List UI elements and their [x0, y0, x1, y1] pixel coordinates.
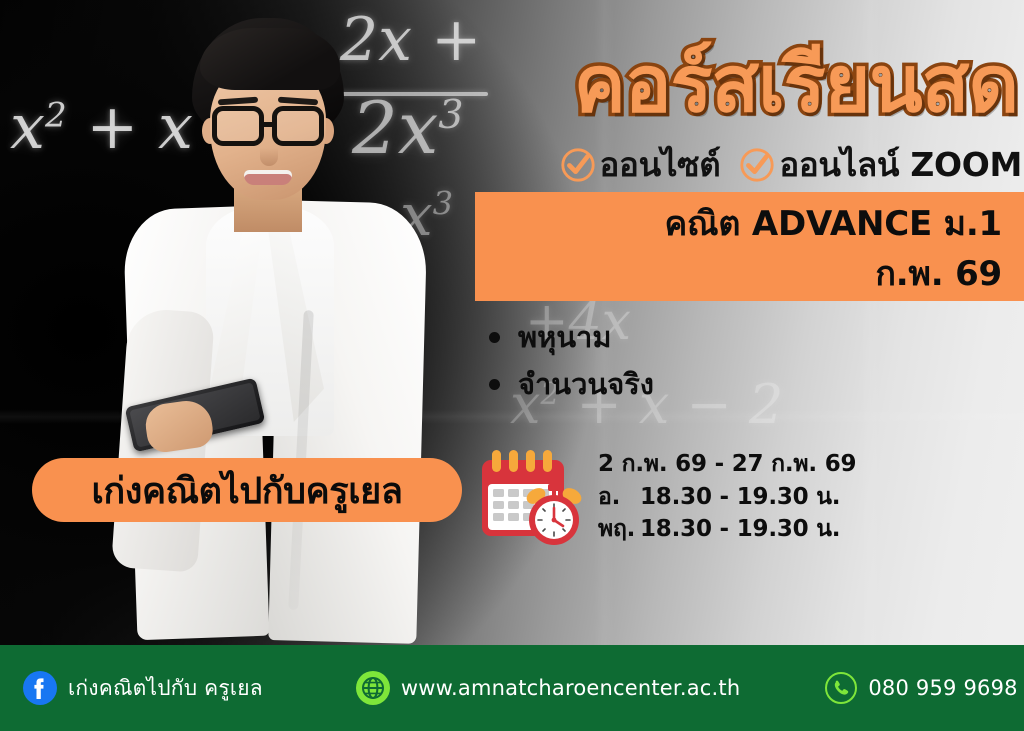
eyeglasses-left-lens: [212, 106, 264, 146]
schedule-session-1: อ.18.30 - 19.30 น.: [598, 481, 856, 514]
hair-fringe: [200, 28, 340, 90]
footer-facebook[interactable]: เก่งคณิตไปกับ ครูเยล: [22, 670, 263, 706]
mode-online-label: ออนไลน์ ZOOM: [779, 138, 1022, 191]
session-day: พฤ.: [598, 513, 640, 546]
facebook-name[interactable]: เก่งคณิตไปกับ ครูเยล: [68, 672, 263, 705]
teacher-portrait: [60, 10, 460, 650]
schedule-block: 2 ก.พ. 69 - 27 ก.พ. 69 อ.18.30 - 19.30 น…: [478, 444, 856, 548]
list-item: จำนวนจริง: [489, 361, 654, 408]
mouth: [244, 170, 292, 185]
session-time: 18.30 - 19.30 น.: [640, 484, 840, 510]
topic-label: พหุนาม: [518, 314, 611, 361]
phone-number[interactable]: 080 959 9698: [868, 676, 1017, 700]
phone-icon[interactable]: [824, 671, 858, 705]
eyeglasses-bridge: [264, 122, 274, 127]
globe-icon[interactable]: [355, 670, 391, 706]
calendar-clock-icon: [478, 448, 582, 548]
mode-onsite-label: ออนไซต์: [600, 138, 721, 191]
schedule-session-2: พฤ.18.30 - 19.30 น.: [598, 513, 856, 546]
topic-list: พหุนาม จำนวนจริง: [489, 314, 654, 408]
course-promo-banner: x2 + x 2x + 2x3 x3 +4x x2 + x − 2 3x คอร…: [0, 0, 1024, 731]
session-time: 18.30 - 19.30 น.: [640, 516, 840, 542]
tagline-badge: เก่งคณิตไปกับครูเยล: [32, 458, 462, 522]
list-item: พหุนาม: [489, 314, 654, 361]
footer-phone[interactable]: 080 959 9698: [824, 671, 1017, 705]
session-day: อ.: [598, 481, 640, 514]
eyeglasses-right-lens: [272, 106, 324, 146]
bullet-icon: [489, 379, 500, 390]
mode-onsite: ออนไซต์: [559, 138, 721, 191]
bullet-icon: [489, 332, 500, 343]
website-url[interactable]: www.amnatcharoencenter.ac.th: [401, 676, 741, 700]
tagline-text: เก่งคณิตไปกับครูเยล: [91, 462, 402, 519]
course-info-box: คณิต ADVANCE ม.1 ก.พ. 69: [475, 192, 1024, 301]
contact-footer: เก่งคณิตไปกับ ครูเยล www.amnatcharoencen…: [0, 645, 1024, 731]
delivery-modes: ออนไซต์ ออนไลน์ ZOOM: [470, 138, 1022, 191]
page-title: คอร์สเรียนสด: [462, 46, 1018, 126]
schedule-text: 2 ก.พ. 69 - 27 ก.พ. 69 อ.18.30 - 19.30 น…: [598, 444, 856, 546]
topic-label: จำนวนจริง: [518, 361, 654, 408]
check-circle-icon: [738, 146, 776, 184]
facebook-icon[interactable]: [22, 670, 58, 706]
footer-website[interactable]: www.amnatcharoencenter.ac.th: [355, 670, 741, 706]
schedule-date-range: 2 ก.พ. 69 - 27 ก.พ. 69: [598, 448, 856, 481]
course-title: คณิต ADVANCE ม.1: [475, 199, 1002, 249]
check-circle-icon: [559, 146, 597, 184]
nose: [260, 140, 278, 166]
mode-online: ออนไลน์ ZOOM: [738, 138, 1022, 191]
course-month: ก.พ. 69: [475, 249, 1002, 299]
